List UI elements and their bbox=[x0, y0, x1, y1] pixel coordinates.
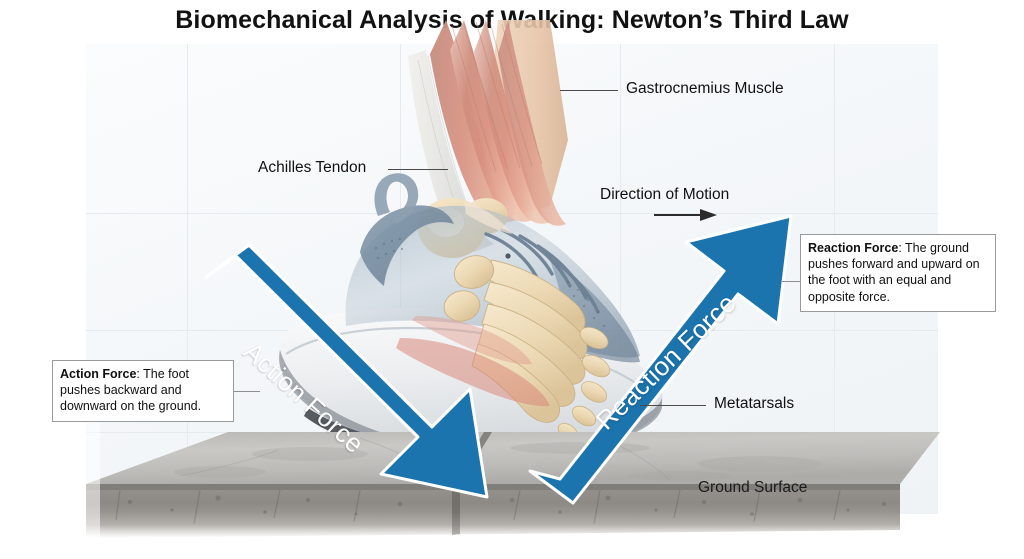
label-gastrocnemius-muscle: Gastrocnemius Muscle bbox=[626, 80, 784, 98]
label-metatarsals: Metatarsals bbox=[714, 395, 794, 413]
action-callout-term: Action Force bbox=[60, 367, 136, 381]
ground-slab bbox=[60, 420, 960, 559]
gastrocnemius-leader-line bbox=[560, 90, 618, 91]
reaction-callout-term: Reaction Force bbox=[808, 241, 898, 255]
action-callout-stem bbox=[234, 391, 260, 392]
metatarsals-leader-line bbox=[640, 405, 706, 406]
label-achilles-tendon: Achilles Tendon bbox=[258, 159, 366, 177]
achilles-leader-line bbox=[388, 169, 448, 170]
arrow-right-icon bbox=[654, 208, 718, 222]
diagram-canvas: Biomechanical Analysis of Walking: Newto… bbox=[0, 0, 1024, 559]
label-ground-surface: Ground Surface bbox=[698, 479, 807, 497]
reaction-callout-stem bbox=[782, 281, 802, 282]
action-force-callout: Action Force: The foot pushes backward a… bbox=[52, 360, 234, 422]
reaction-force-callout: Reaction Force: The ground pushes forwar… bbox=[800, 234, 996, 312]
label-direction-of-motion: Direction of Motion bbox=[600, 186, 729, 204]
